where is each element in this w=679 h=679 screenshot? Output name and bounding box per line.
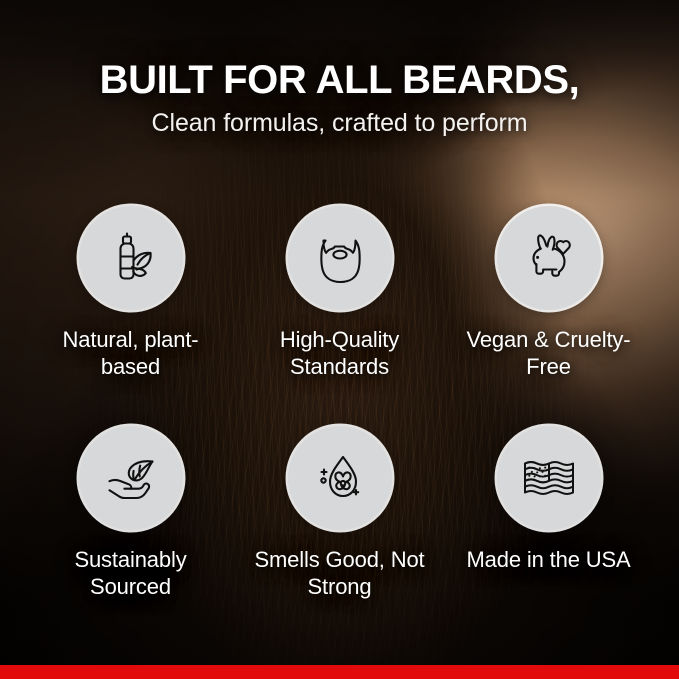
feature-item-sustainably-sourced: Sustainably Sourced — [26, 426, 235, 646]
page-subtitle: Clean formulas, crafted to perform — [0, 108, 679, 138]
feature-item-smells-good: Smells Good, Not Strong — [235, 426, 444, 646]
rabbit-heart-icon — [520, 229, 578, 287]
beard-care-feature-infographic: BUILT FOR ALL BEARDS, Clean formulas, cr… — [0, 0, 679, 679]
feature-badge — [79, 206, 183, 310]
feature-badge — [497, 426, 601, 530]
feature-label: Natural, plant-based — [41, 326, 221, 380]
feature-label: Vegan & Cruelty-Free — [459, 326, 639, 380]
dropper-bottle-leaf-icon — [102, 229, 160, 287]
usa-flag-icon — [520, 449, 578, 507]
feature-badge — [288, 426, 392, 530]
feature-label: Made in the USA — [466, 546, 630, 573]
bottom-accent-bar — [0, 665, 679, 679]
feature-item-vegan-cruelty-free: Vegan & Cruelty-Free — [444, 206, 653, 426]
beard-icon — [311, 229, 369, 287]
page-title: BUILT FOR ALL BEARDS, — [0, 58, 679, 102]
droplet-flower-icon — [311, 449, 369, 507]
feature-item-natural-plant-based: Natural, plant-based — [26, 206, 235, 426]
hand-holding-leaf-icon — [102, 449, 160, 507]
feature-item-made-in-usa: Made in the USA — [444, 426, 653, 646]
feature-label: Smells Good, Not Strong — [250, 546, 430, 600]
feature-badge — [288, 206, 392, 310]
feature-badge — [79, 426, 183, 530]
feature-label: Sustainably Sourced — [41, 546, 221, 600]
feature-item-high-quality-standards: High-Quality Standards — [235, 206, 444, 426]
feature-badge — [497, 206, 601, 310]
feature-label: High-Quality Standards — [250, 326, 430, 380]
feature-grid: Natural, plant-based High-Quality Standa… — [26, 206, 653, 646]
